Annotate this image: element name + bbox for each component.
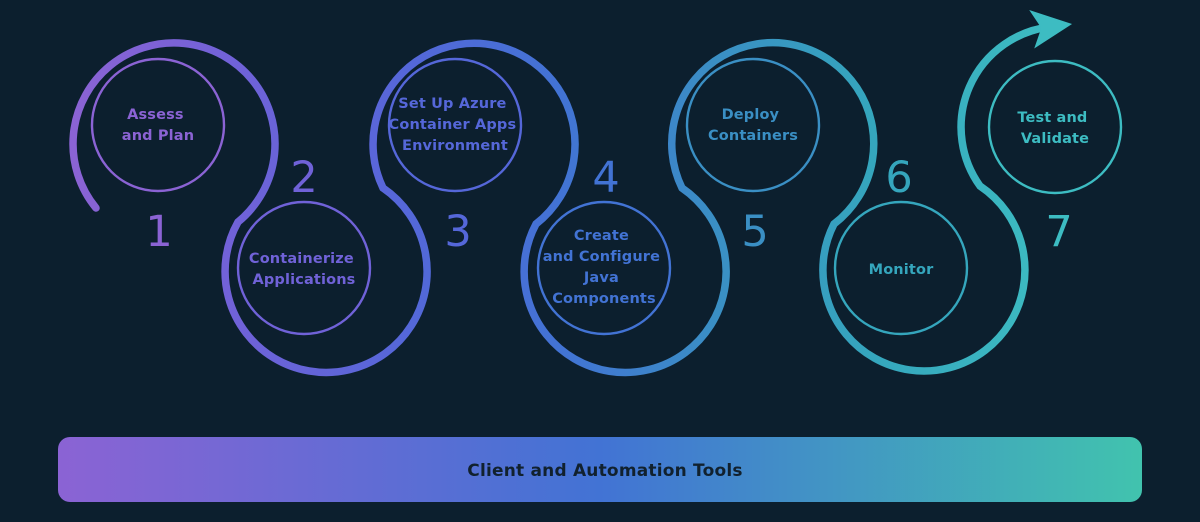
step-3-label: Set Up Azure Container Apps Environment (389, 96, 522, 154)
step-1-label: Assess and Plan (122, 107, 194, 144)
step-6-number: 6 (885, 153, 912, 203)
step-5-label-line-2: Containers (708, 128, 798, 144)
step-4-label-line-2: and Configure (543, 249, 660, 265)
step-2-number: 2 (290, 153, 317, 203)
step-5-label-line-1: Deploy (722, 107, 780, 123)
step-4-label-line-4: Components (552, 291, 656, 307)
step-6[interactable]: Monitor 6 (835, 153, 967, 334)
step-2-circle[interactable] (238, 202, 370, 334)
step-6-label-line-1: Monitor (869, 262, 934, 278)
process-flow-diagram: Assess and Plan 1 Containerize Applicati… (0, 0, 1200, 522)
step-1-label-line-2: and Plan (122, 128, 194, 144)
step-3-number: 3 (444, 207, 471, 257)
step-2[interactable]: Containerize Applications 2 (238, 153, 370, 334)
step-1-label-line-1: Assess (127, 107, 183, 123)
step-4[interactable]: Create and Configure Java Components 4 (538, 153, 670, 334)
step-7[interactable]: Test and Validate 7 (989, 61, 1121, 257)
step-6-label: Monitor (869, 262, 934, 278)
step-3-label-line-3: Environment (402, 138, 508, 154)
step-7-label: Test and Validate (1017, 110, 1092, 147)
footer-banner-label: Client and Automation Tools (467, 461, 742, 481)
step-7-number: 7 (1045, 207, 1072, 257)
step-2-label-line-2: Applications (253, 272, 356, 288)
step-1-number: 1 (145, 207, 172, 257)
step-1[interactable]: Assess and Plan 1 (92, 59, 224, 257)
step-2-label-line-1: Containerize (249, 251, 354, 267)
step-3-label-line-1: Set Up Azure (398, 96, 506, 112)
step-2-label: Containerize Applications (249, 251, 359, 288)
step-3[interactable]: Set Up Azure Container Apps Environment … (389, 59, 522, 257)
step-4-label-line-1: Create (574, 228, 629, 244)
step-5[interactable]: Deploy Containers 5 (687, 59, 819, 257)
step-3-label-line-2: Container Apps (389, 117, 517, 133)
step-4-circle[interactable] (538, 202, 670, 334)
diagram-canvas: Assess and Plan 1 Containerize Applicati… (0, 0, 1200, 522)
step-4-number: 4 (592, 153, 619, 203)
footer-banner[interactable]: Client and Automation Tools (58, 437, 1142, 502)
step-4-label-line-3: Java (583, 270, 619, 286)
step-7-label-line-2: Validate (1021, 131, 1089, 147)
step-5-number: 5 (741, 207, 768, 257)
step-5-label: Deploy Containers (708, 107, 798, 144)
step-7-circle[interactable] (989, 61, 1121, 193)
step-7-label-line-1: Test and (1017, 110, 1087, 126)
step-5-circle[interactable] (687, 59, 819, 191)
step-1-circle[interactable] (92, 59, 224, 191)
step-4-label: Create and Configure Java Components (543, 228, 666, 307)
